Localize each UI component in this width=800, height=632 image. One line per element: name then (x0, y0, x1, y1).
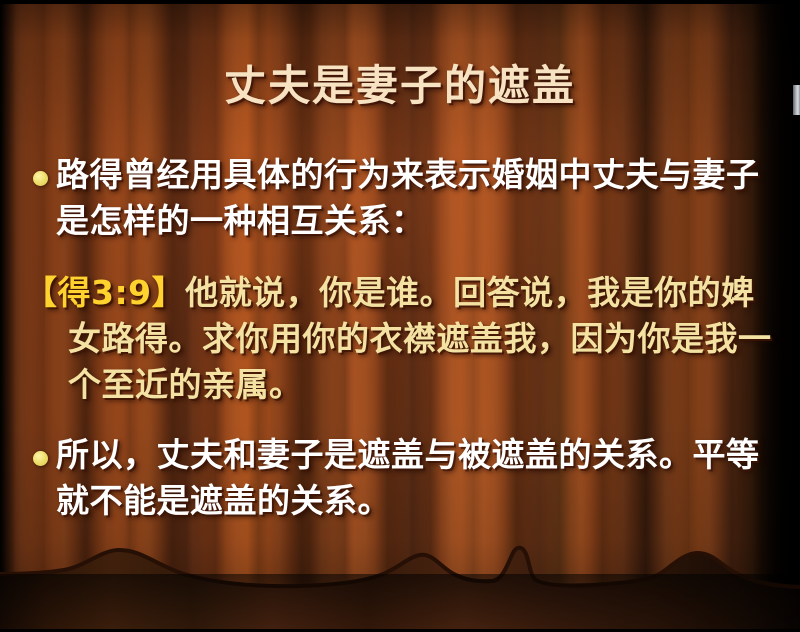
bullet-dot-icon (33, 451, 48, 466)
scripture-reference: 【得3:9】 (24, 273, 185, 312)
letterbox-top (0, 0, 800, 4)
bullet-text: 路得曾经用具体的行为来表示婚姻中丈夫与妻子是怎样的一种相互关系： (56, 155, 760, 240)
list-item: 路得曾经用具体的行为来表示婚姻中丈夫与妻子是怎样的一种相互关系： (24, 152, 776, 244)
bullet-text: 所以，丈夫和妻子是遮盖与被遮盖的关系。平等就不能是遮盖的关系。 (56, 435, 760, 520)
window-edge-sliver (793, 85, 800, 115)
scripture-quote: 【得3:9】他就说，你是谁。回答说，我是你的婢女路得。求你用你的衣襟遮盖我，因为… (24, 270, 776, 408)
page-title: 丈夫是妻子的遮盖 (0, 52, 800, 113)
slide-body: 路得曾经用具体的行为来表示婚姻中丈夫与妻子是怎样的一种相互关系： 【得3:9】他… (24, 152, 776, 524)
list-item: 所以，丈夫和妻子是遮盖与被遮盖的关系。平等就不能是遮盖的关系。 (24, 432, 776, 524)
bullet-dot-icon (33, 171, 48, 186)
slide-content: 丈夫是妻子的遮盖 路得曾经用具体的行为来表示婚姻中丈夫与妻子是怎样的一种相互关系… (0, 0, 800, 632)
presentation-slide: 丈夫是妻子的遮盖 路得曾经用具体的行为来表示婚姻中丈夫与妻子是怎样的一种相互关系… (0, 0, 800, 632)
